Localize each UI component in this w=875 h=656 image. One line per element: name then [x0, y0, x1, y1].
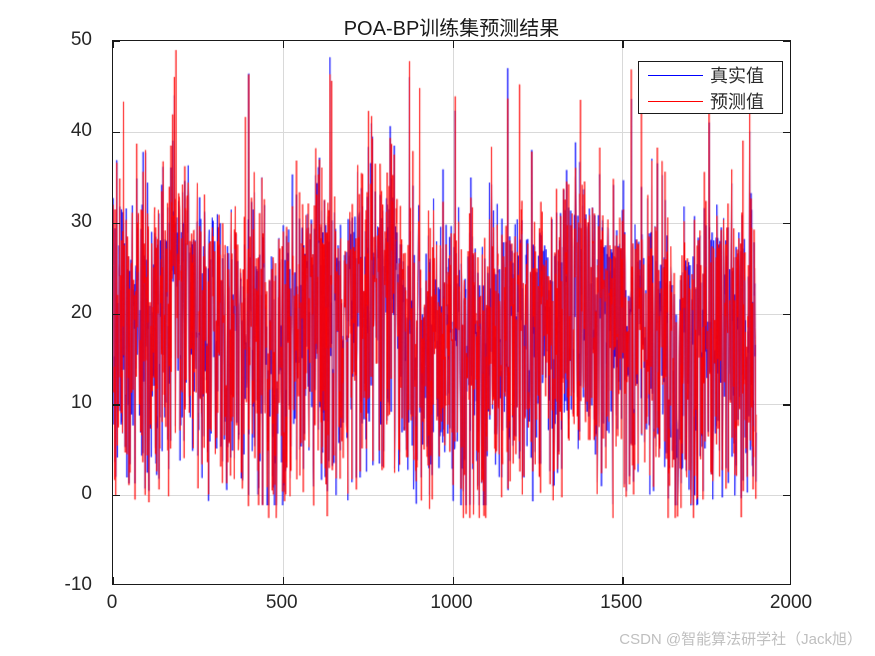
y-axis-tick [113, 404, 120, 405]
y-axis-tick [783, 223, 790, 224]
legend-label-predicted: 预测值 [710, 88, 764, 114]
y-tick-label: 50 [12, 29, 92, 51]
matlab-figure: POA-BP训练集预测结果 -1001020304050 05001000150… [0, 0, 875, 656]
x-axis-tick [453, 41, 454, 48]
y-tick-label: 30 [12, 211, 92, 233]
y-axis-tick [113, 495, 120, 496]
y-tick-label: 40 [12, 120, 92, 142]
x-axis-tick [622, 577, 623, 584]
plot-axes [112, 40, 791, 585]
y-axis-tick [113, 314, 120, 315]
x-axis-tick [283, 41, 284, 48]
legend-label-true: 真实值 [710, 62, 764, 88]
series-canvas [113, 41, 790, 584]
y-axis-tick [783, 495, 790, 496]
legend-line-swatch-true [648, 75, 703, 76]
y-axis-tick [783, 41, 790, 42]
x-axis-tick [453, 577, 454, 584]
y-axis-tick [783, 132, 790, 133]
x-tick-label: 1000 [392, 592, 512, 614]
x-tick-label: 0 [52, 592, 172, 614]
x-axis-tick [622, 41, 623, 48]
x-axis-tick [113, 41, 114, 48]
csdn-watermark: CSDN @智能算法研学社（Jack旭） [0, 628, 862, 649]
x-tick-label: 500 [222, 592, 342, 614]
legend-entry-true[interactable]: 真实值 [639, 62, 782, 88]
y-tick-label: 20 [12, 302, 92, 324]
y-axis-tick [113, 223, 120, 224]
legend-entry-predicted[interactable]: 预测值 [639, 88, 782, 114]
x-tick-label: 2000 [731, 592, 851, 614]
chart-title: POA-BP训练集预测结果 [112, 12, 791, 41]
y-axis-tick [783, 314, 790, 315]
y-axis-tick [783, 404, 790, 405]
x-tick-label: 1500 [561, 592, 681, 614]
x-axis-tick [113, 577, 114, 584]
legend-box[interactable]: 真实值 预测值 [638, 61, 783, 114]
legend-line-swatch-predicted [648, 101, 703, 102]
y-axis-tick [113, 132, 120, 133]
x-axis-tick [283, 577, 284, 584]
y-tick-label: 10 [12, 392, 92, 414]
y-tick-label: 0 [12, 483, 92, 505]
